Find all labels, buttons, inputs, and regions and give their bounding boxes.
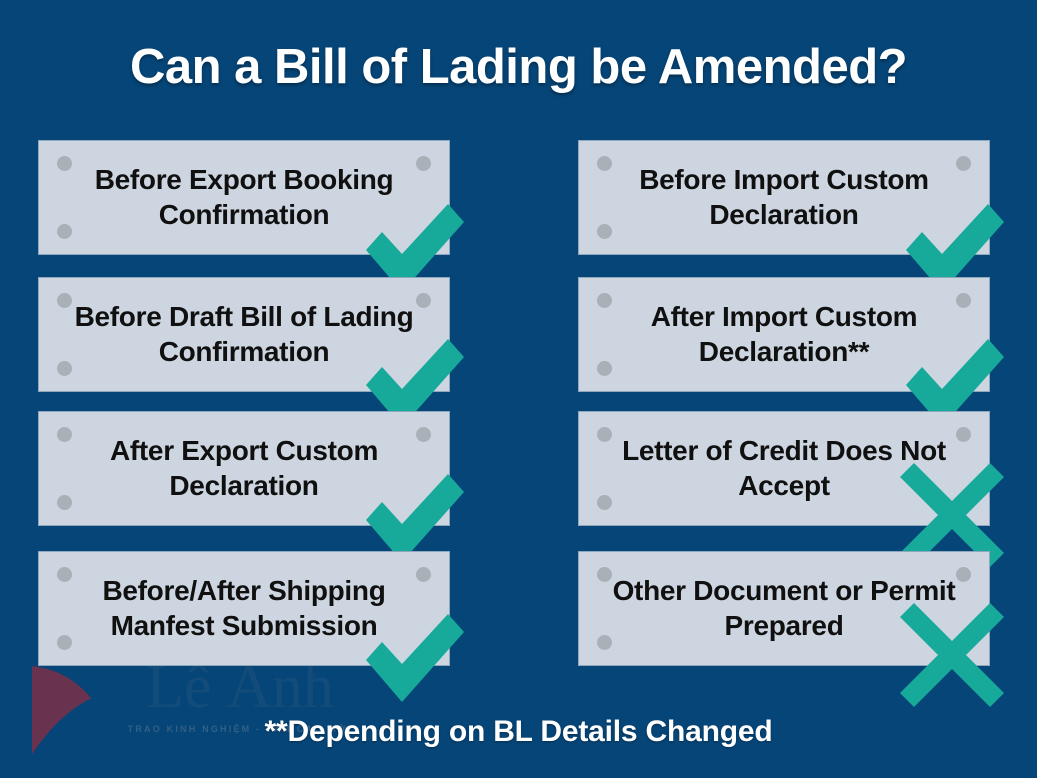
- item-label: After Export Custom Declaration: [65, 433, 423, 505]
- item-label: Before Draft Bill of Lading Confirmation: [65, 299, 423, 371]
- infographic-canvas: Can a Bill of Lading be Amended? XUẤT NH…: [0, 0, 1037, 778]
- item-card[interactable]: Before Draft Bill of Lading Confirmation: [38, 277, 450, 392]
- item-label: After Import Custom Declaration**: [605, 299, 963, 371]
- item-card[interactable]: Letter of Credit Does Not Accept: [578, 411, 990, 526]
- item-label: Before Import Custom Declaration: [605, 162, 963, 234]
- page-title: Can a Bill of Lading be Amended?: [0, 42, 1037, 93]
- item-card[interactable]: Before Import Custom Declaration: [578, 140, 990, 255]
- item-label: Before/After Shipping Manfest Submission: [65, 573, 423, 645]
- item-label: Before Export Booking Confirmation: [65, 162, 423, 234]
- item-card[interactable]: After Export Custom Declaration: [38, 411, 450, 526]
- item-card[interactable]: After Import Custom Declaration**: [578, 277, 990, 392]
- footnote: **Depending on BL Details Changed: [0, 715, 1037, 749]
- item-label: Letter of Credit Does Not Accept: [605, 433, 963, 505]
- item-card[interactable]: Other Document or Permit Prepared: [578, 551, 990, 666]
- watermark-registered-mark: ®: [308, 670, 319, 687]
- item-card[interactable]: Before/After Shipping Manfest Submission: [38, 551, 450, 666]
- item-card[interactable]: Before Export Booking Confirmation: [38, 140, 450, 255]
- item-label: Other Document or Permit Prepared: [605, 573, 963, 645]
